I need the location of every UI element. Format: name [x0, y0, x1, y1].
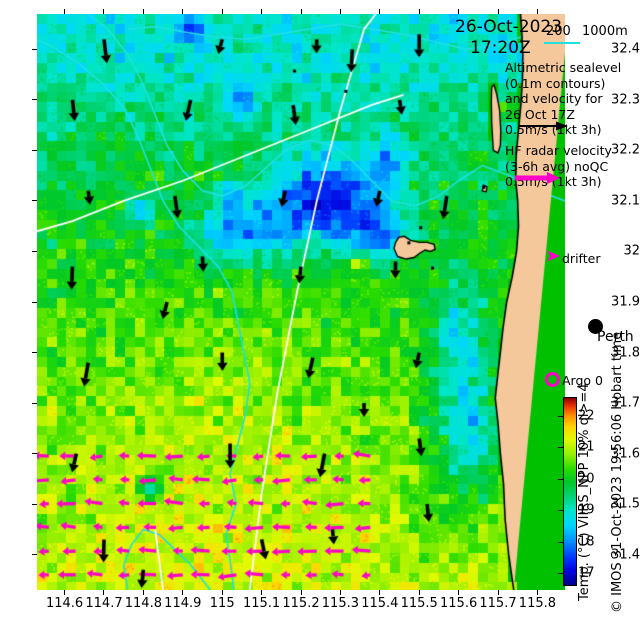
x-axis-tick-mark: [419, 9, 420, 14]
x-axis-tick-mark: [458, 590, 459, 595]
y-axis-tick-mark: [32, 251, 37, 252]
drifter-label: drifter: [562, 251, 600, 266]
y-axis-tick-label: 32.3: [607, 92, 640, 107]
y-axis-tick-label: 32.1: [607, 193, 640, 208]
colorbar-tick-mark: [558, 510, 563, 511]
colorbar-tick-mark: [558, 542, 563, 543]
x-axis-tick-mark: [498, 590, 499, 595]
y-axis-tick-label: 31.7: [607, 396, 640, 411]
x-axis-tick-mark: [103, 9, 104, 14]
depth-contour-1000-label: 1000m: [582, 24, 628, 39]
y-axis-tick-label: 31.5: [607, 497, 640, 512]
x-axis-tick-mark: [182, 590, 183, 595]
altimetry-reference-arrow-icon: [518, 119, 570, 133]
x-axis-tick-label: 115.5: [401, 596, 438, 611]
y-axis-tick-mark: [32, 150, 37, 151]
x-axis-tick-mark: [64, 590, 65, 595]
altimetry-legend-line2: (0.1m contours): [505, 76, 621, 92]
x-axis-tick-label: 115: [210, 596, 235, 611]
y-axis-tick-label: 31.8: [607, 345, 640, 360]
colorbar-tick-mark: [558, 479, 563, 480]
y-axis-tick-label: 32: [607, 244, 640, 259]
y-axis-tick-mark: [32, 554, 37, 555]
x-axis-tick-mark: [340, 590, 341, 595]
credit-text: © IMOS 31-Oct-2023 19:56:06 Hobart time: [610, 332, 625, 613]
x-axis-tick-mark: [301, 9, 302, 14]
x-axis-tick-label: 115.8: [519, 596, 556, 611]
oceancurrent-map-figure: 26-Oct-2023 17:20Z 200 1000m Altimetric …: [0, 0, 640, 630]
x-axis-tick-label: 114.8: [125, 596, 162, 611]
x-axis-tick-mark: [103, 590, 104, 595]
x-axis-tick-mark: [143, 590, 144, 595]
x-axis-tick-label: 115.6: [440, 596, 477, 611]
x-axis-tick-mark: [419, 590, 420, 595]
hf-radar-reference-arrow-icon: [514, 171, 562, 185]
map-plot-area[interactable]: [37, 14, 565, 590]
x-axis-tick-mark: [143, 9, 144, 14]
y-axis-tick-label: 32.4: [607, 42, 640, 57]
drifter-marker-icon: [545, 250, 561, 262]
x-axis-tick-mark: [537, 9, 538, 14]
x-axis-tick-mark: [261, 590, 262, 595]
depth-contour-200-label: 200: [546, 24, 571, 39]
y-axis-tick-label: 31.9: [607, 295, 640, 310]
x-axis-tick-mark: [222, 9, 223, 14]
y-axis-tick-mark: [32, 352, 37, 353]
x-axis-tick-mark: [301, 590, 302, 595]
x-axis-tick-label: 115.2: [282, 596, 319, 611]
x-axis-tick-label: 115.1: [243, 596, 280, 611]
y-axis-tick-mark: [32, 302, 37, 303]
y-axis: [0, 0, 33, 630]
colorbar-tick-mark: [558, 573, 563, 574]
velocity-vector-layer: [37, 14, 565, 590]
temperature-colorbar: [563, 397, 577, 586]
x-axis-tick-mark: [182, 9, 183, 14]
x-axis-tick-label: 114.6: [46, 596, 83, 611]
y-axis-tick-mark: [32, 200, 37, 201]
x-axis-tick-mark: [222, 590, 223, 595]
y-axis-tick-label: 32.2: [607, 143, 640, 158]
title-time: 17:20Z: [470, 38, 531, 58]
x-axis-tick-mark: [498, 9, 499, 14]
altimetry-legend-line3: and velocity for: [505, 91, 621, 107]
y-axis-tick-mark: [32, 504, 37, 505]
y-axis-tick-mark: [32, 99, 37, 100]
x-axis-tick-mark: [379, 590, 380, 595]
hf-radar-legend-line1: HF radar velocity: [505, 143, 612, 159]
x-axis-tick-mark: [261, 9, 262, 14]
depth-contour-swatch: [544, 42, 580, 44]
x-axis-tick-mark: [379, 9, 380, 14]
y-axis-tick-label: 31.4: [607, 547, 640, 562]
x-axis-tick-mark: [340, 9, 341, 14]
x-axis-tick-mark: [458, 9, 459, 14]
y-axis-tick-mark: [32, 453, 37, 454]
y-axis-tick-mark: [32, 403, 37, 404]
x-axis-tick-mark: [64, 9, 65, 14]
x-axis-tick-mark: [537, 590, 538, 595]
x-axis-tick-label: 115.7: [479, 596, 516, 611]
colorbar-title: Temp. (°C) VIIRS_NPP 10% ql>=4: [577, 383, 592, 601]
altimetry-legend-line1: Altimetric sealevel: [505, 60, 621, 76]
y-axis-tick-mark: [32, 49, 37, 50]
y-axis-tick-label: 31.6: [607, 446, 640, 461]
colorbar-tick-mark: [558, 416, 563, 417]
argo-float-marker-icon: [545, 372, 560, 387]
x-axis-tick-label: 115.3: [322, 596, 359, 611]
x-axis-tick-label: 115.4: [361, 596, 398, 611]
colorbar-tick-mark: [558, 447, 563, 448]
x-axis-tick-label: 114.9: [164, 596, 201, 611]
x-axis-tick-label: 114.7: [85, 596, 122, 611]
